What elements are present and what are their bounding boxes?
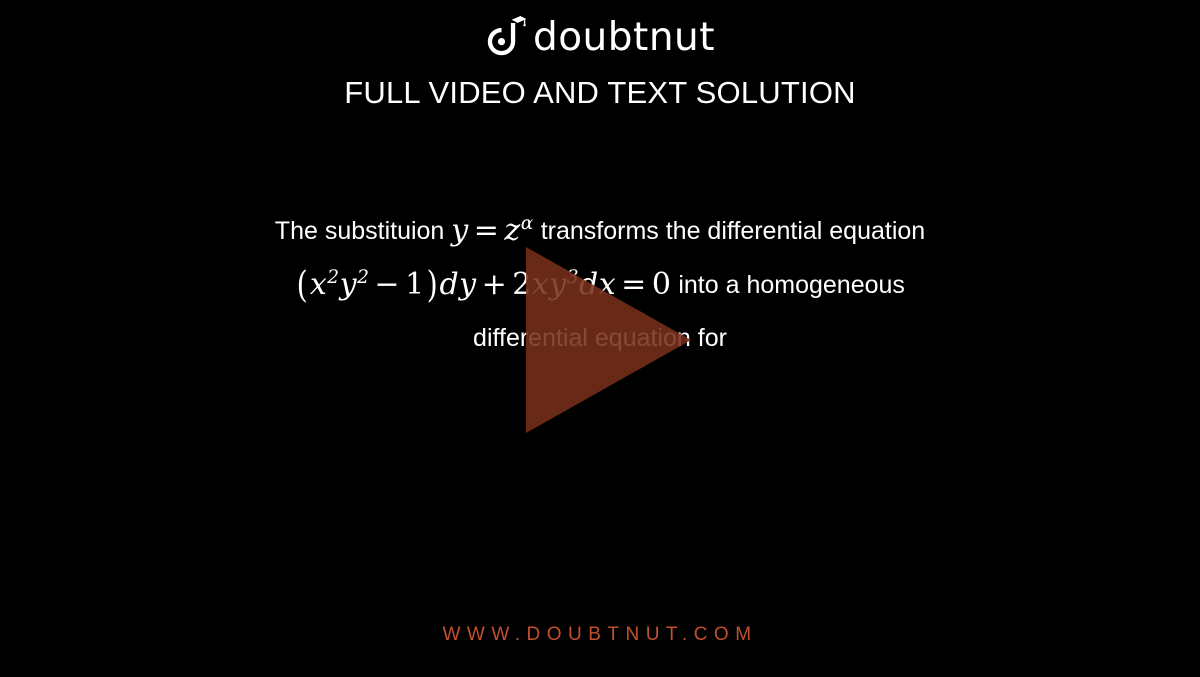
question-line-2: (x2y2−1)dy+2xy3dx=0 into a homogeneous (100, 258, 1100, 312)
question-line-3: differential equation for (100, 312, 1100, 365)
math-zero: 0 (652, 267, 672, 302)
math-var-y-cubed: y (549, 267, 566, 302)
question-line-1-suffix: transforms the differential equation (534, 217, 925, 245)
math-dy: dy (439, 267, 476, 302)
math-equals: = (469, 213, 505, 248)
math-substitution: y=zα (451, 213, 533, 248)
question-line-2-suffix: into a homogeneous (671, 271, 905, 299)
question-text: The substituion y=zα transforms the diff… (100, 204, 1100, 365)
doubtnut-graduation-logo-icon (485, 14, 527, 58)
math-var-z: z (504, 213, 520, 248)
question-line-1-prefix: The substituion (275, 217, 452, 245)
math-differential-equation: (x2y2−1)dy+2xy3dx=0 (295, 267, 671, 302)
math-equals-second: = (616, 267, 652, 302)
math-paren-close: ) (426, 258, 438, 311)
math-exponent-x: 2 (327, 267, 339, 288)
math-paren-open: ( (297, 258, 309, 311)
math-two: 2 (512, 267, 532, 302)
math-minus: − (369, 267, 405, 302)
math-exponent-alpha: α (521, 213, 534, 234)
math-dx: dx (579, 267, 616, 302)
question-line-1: The substituion y=zα transforms the diff… (100, 204, 1100, 258)
math-var-x-second: x (532, 267, 549, 302)
footer-website-url[interactable]: WWW.DOUBTNUT.COM (0, 624, 1200, 646)
brand-wordmark: doubtnut (533, 18, 715, 57)
math-plus: + (477, 267, 513, 302)
math-var-y: y (451, 213, 468, 248)
math-exponent-three: 3 (567, 267, 579, 288)
math-one: 1 (405, 267, 425, 302)
brand-logo[interactable]: doubtnut (0, 14, 1200, 58)
math-var-y2: y (340, 267, 357, 302)
math-var-x: x (310, 267, 327, 302)
math-exponent-y: 2 (357, 267, 369, 288)
page-title: FULL VIDEO AND TEXT SOLUTION (0, 74, 1200, 112)
